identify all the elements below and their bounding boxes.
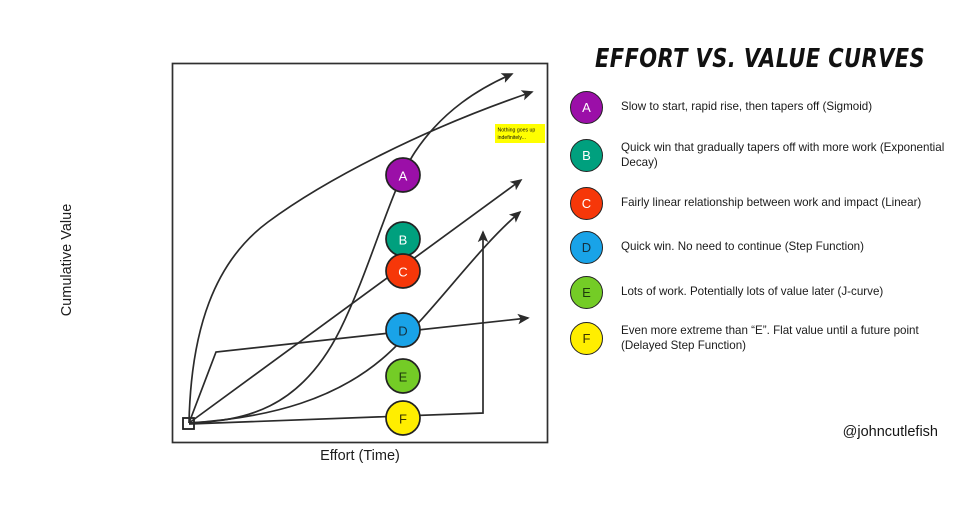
- x-axis-label: Effort (Time): [260, 448, 460, 464]
- legend-badge-f: F: [570, 322, 603, 355]
- legend-badge-c: C: [570, 187, 603, 220]
- legend-description-c: Fairly linear relationship between work …: [621, 196, 921, 211]
- legend-item-c: C Fairly linear relationship between wor…: [570, 187, 955, 220]
- legend-badge-a: A: [570, 91, 603, 124]
- plot-frame: [173, 64, 548, 443]
- legend-panel: EFFORT VS. VALUE CURVES A Slow to start,…: [560, 0, 960, 522]
- chart-node-c-label: C: [398, 265, 407, 280]
- annotation-note: Nothing goes up indefinitely...: [495, 124, 545, 143]
- legend-description-f: Even more extreme than “E”. Flat value u…: [621, 324, 955, 353]
- effort-value-chart: A B C D E F Nothing goes up indefinitely…: [0, 0, 560, 522]
- legend-item-f: F Even more extreme than “E”. Flat value…: [570, 322, 955, 355]
- legend-item-d: D Quick win. No need to continue (Step F…: [570, 231, 955, 264]
- legend-item-e: E Lots of work. Potentially lots of valu…: [570, 276, 955, 309]
- legend-badge-b: B: [570, 139, 603, 172]
- chart-node-f-label: F: [399, 412, 407, 427]
- chart-node-a-label: A: [399, 169, 408, 184]
- chart-node-e-label: E: [399, 370, 408, 385]
- chart-node-d: D: [386, 313, 420, 347]
- author-handle: @johncutlefish: [560, 424, 938, 440]
- legend-badge-e: E: [570, 276, 603, 309]
- page-title: EFFORT VS. VALUE CURVES: [560, 44, 960, 73]
- legend-description-d: Quick win. No need to continue (Step Fun…: [621, 240, 864, 255]
- legend-item-a: A Slow to start, rapid rise, then tapers…: [570, 91, 955, 124]
- chart-node-c: C: [386, 254, 420, 288]
- legend-description-e: Lots of work. Potentially lots of value …: [621, 285, 883, 300]
- chart-node-b: B: [386, 222, 420, 256]
- y-axis-label: Cumulative Value: [59, 160, 75, 360]
- chart-node-d-label: D: [398, 324, 407, 339]
- legend-description-a: Slow to start, rapid rise, then tapers o…: [621, 100, 872, 115]
- annotation-note-line2: indefinitely...: [498, 135, 526, 141]
- chart-node-a: A: [386, 158, 420, 192]
- chart-node-b-label: B: [399, 233, 408, 248]
- chart-node-e: E: [386, 359, 420, 393]
- legend-item-b: B Quick win that gradually tapers off wi…: [570, 139, 955, 172]
- chart-panel: A B C D E F Nothing goes up indefinitely…: [0, 0, 560, 522]
- legend-badge-d: D: [570, 231, 603, 264]
- legend-description-b: Quick win that gradually tapers off with…: [621, 141, 955, 170]
- annotation-note-line1: Nothing goes up: [498, 128, 536, 134]
- chart-node-f: F: [386, 401, 420, 435]
